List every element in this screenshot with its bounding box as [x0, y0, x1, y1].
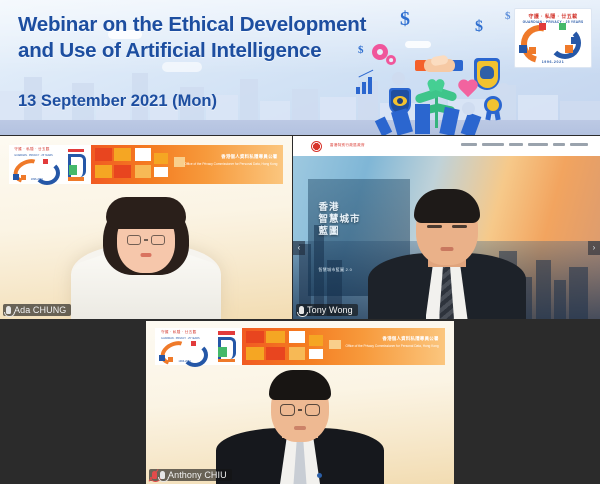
bar-chart-icon — [356, 72, 378, 94]
participant-name: Anthony CHIU — [168, 470, 227, 480]
carousel-prev-button[interactable]: ‹ — [293, 241, 305, 255]
page-title-line-1: Webinar on the Ethical Development — [18, 12, 378, 38]
microphone-icon — [299, 306, 304, 314]
participant-video-tony-wong — [347, 179, 547, 319]
pcpd-p-mark — [64, 145, 91, 183]
cloud-icon — [405, 41, 431, 48]
lock-icon — [462, 102, 475, 115]
participant-name: Tony Wong — [307, 305, 353, 315]
participant-hair — [269, 370, 331, 400]
website-nav-menu — [461, 143, 588, 146]
video-tile-anthony-chiu[interactable]: 守護 · 私隱 · 廿五載 GUARDIAN · PRIVACY · 25 YE… — [146, 321, 454, 484]
virtual-background-website-nav: 香港特別行政區政府 — [293, 136, 600, 156]
skyline-silhouette — [0, 59, 600, 121]
microphone-muted-icon — [152, 471, 157, 479]
carousel-next-button[interactable]: › — [588, 241, 600, 255]
participant-glasses — [280, 404, 320, 416]
participant-hair — [414, 189, 480, 223]
video-tile-ada-chung[interactable]: 守護 · 私隱 · 廿五載 GUARDIAN · PRIVACY · 25 YE… — [0, 136, 292, 319]
pcpd-25th-anniversary-logo: 守護 · 私隱 · 廿五載 GUARDIAN · PRIVACY · 25 YE… — [514, 8, 592, 68]
person-icon — [364, 102, 377, 115]
pcpd-backdrop-english: Office of the Privacy Commissioner for P… — [184, 162, 277, 166]
pcpd-backdrop-english: Office of the Privacy Commissioner for P… — [346, 344, 439, 348]
website-logo-icon — [311, 141, 322, 152]
pcpd-banner-backdrop: 守護 · 私隱 · 廿五載 GUARDIAN · PRIVACY · 25 YE… — [155, 328, 445, 365]
page-title-line-2: and Use of Artificial Intelligence — [18, 38, 378, 64]
building-icon — [415, 104, 430, 134]
award-ribbon-icon — [483, 96, 503, 120]
pcpd-25-logo-on-backdrop: 守護 · 私隱 · 廿五載 GUARDIAN · PRIVACY · 25 YE… — [155, 328, 213, 365]
nameplate-anthony-chiu: Anthony CHIU — [149, 469, 232, 481]
microphone-icon — [6, 306, 11, 314]
participant-name: Ada CHUNG — [14, 305, 66, 315]
anniversary-number-graphic — [515, 23, 591, 57]
page-title: Webinar on the Ethical Development and U… — [18, 12, 378, 64]
microphone-icon — [160, 471, 165, 479]
video-tile-tony-wong[interactable]: 香港特別行政區政府 香港智慧城市藍圖 智慧城市藍圖 2.0 ‹ — [293, 136, 600, 319]
participant-video-anthony-chiu — [195, 362, 405, 484]
participant-glasses — [127, 235, 165, 245]
website-logo-text: 香港特別行政區政府 — [330, 143, 365, 148]
gear-icon — [386, 55, 396, 65]
anniversary-chinese-text: 守護 · 私隱 · 廿五載 — [515, 13, 591, 20]
lock-icon — [392, 72, 405, 85]
pcpd-25-logo-on-backdrop: 守護 · 私隱 · 廿五載 GUARDIAN · PRIVACY · 25 YE… — [9, 145, 64, 183]
handshake-icon — [415, 56, 463, 76]
pcpd-p-mark — [213, 328, 242, 365]
participant-video-ada-chung — [46, 191, 246, 319]
nameplate-tony-wong: Tony Wong — [296, 304, 358, 316]
webinar-screenshot: $ $ $ $ — [0, 0, 600, 484]
banner-ground — [0, 120, 600, 135]
heart-icon — [457, 80, 479, 100]
anniversary-years: 1996-2021 — [515, 60, 591, 64]
pcpd-banner-backdrop: 守護 · 私隱 · 廿五載 GUARDIAN · PRIVACY · 25 YE… — [9, 145, 283, 183]
pcpd-orange-bar: 香港個人資料私隱專員公署 Office of the Privacy Commi… — [91, 145, 283, 183]
dollar-sign-icon: $ — [400, 8, 410, 31]
nameplate-ada-chung: Ada CHUNG — [3, 304, 71, 316]
pcpd-backdrop-chinese: 香港個人資料私隱專員公署 — [221, 154, 277, 160]
person-icon — [497, 83, 510, 96]
webinar-banner: $ $ $ $ — [0, 0, 600, 135]
webinar-date: 13 September 2021 (Mon) — [18, 92, 217, 111]
dollar-sign-icon: $ — [505, 10, 511, 22]
participant-fringe — [106, 197, 186, 229]
pcpd-backdrop-chinese: 香港個人資料私隱專員公署 — [382, 336, 438, 342]
dollar-sign-icon: $ — [475, 18, 483, 36]
pcpd-orange-bar: 香港個人資料私隱專員公署 Office of the Privacy Commi… — [242, 328, 445, 365]
